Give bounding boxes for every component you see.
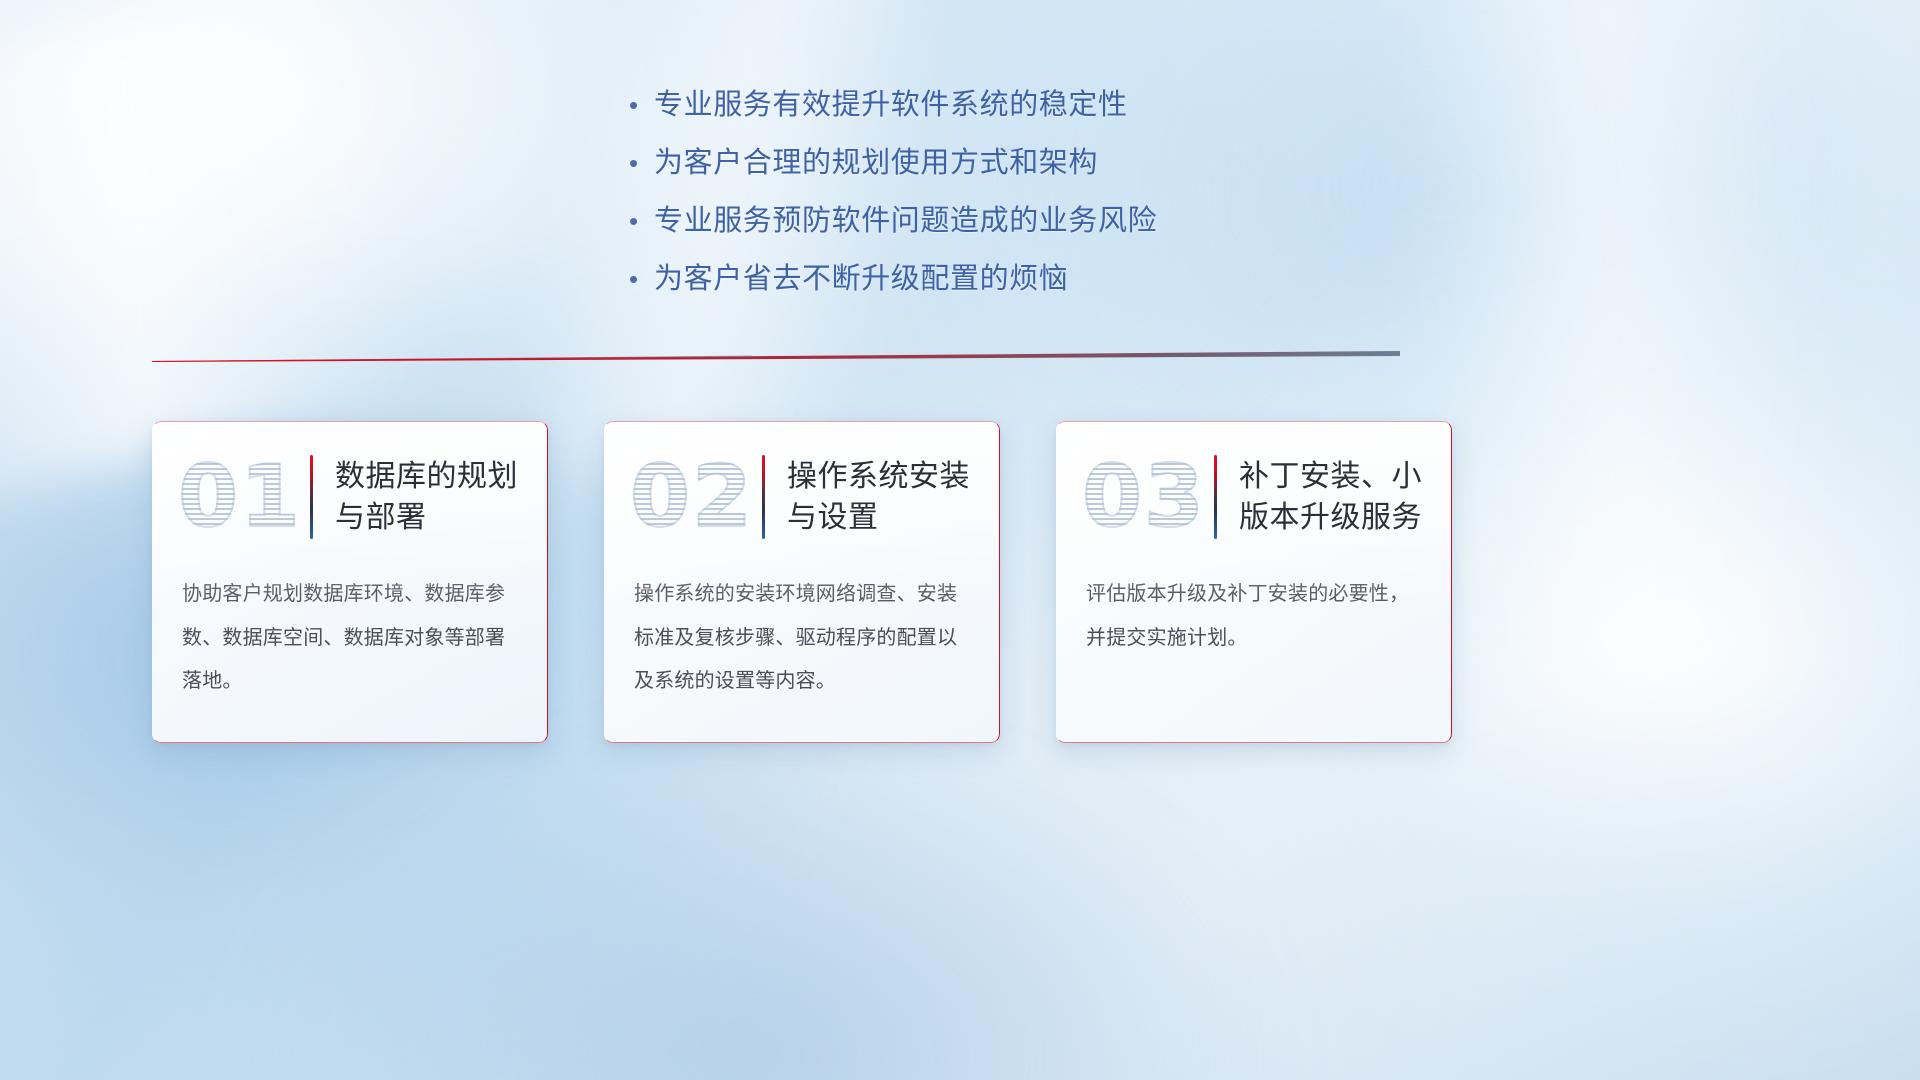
card-03[interactable]: 03 补丁安装、小版本升级服务 评估版本升级及补丁安装的必要性，并提交实施计划。 <box>1056 421 1452 743</box>
bullet-dot-icon: • <box>620 150 654 176</box>
section-divider <box>152 349 1400 363</box>
card-header: 03 补丁安装、小版本升级服务 <box>1056 421 1452 573</box>
bullet-text: 为客户省去不断升级配置的烦恼 <box>654 260 1068 299</box>
card-number-badge: 01 <box>174 445 306 549</box>
bullet-dot-icon: • <box>620 266 654 292</box>
card-02[interactable]: 02 操作系统安装与设置 操作系统的安装环境网络调查、安装标准及复核步骤、驱动程… <box>604 421 1000 743</box>
bullet-text: 为客户合理的规划使用方式和架构 <box>654 144 1098 183</box>
card-header: 01 数据库的规划与部署 <box>152 421 548 573</box>
card-number: 01 <box>178 454 302 540</box>
list-item: • 专业服务预防软件问题造成的业务风险 <box>620 202 1300 241</box>
list-item: • 专业服务有效提升软件系统的稳定性 <box>620 86 1300 125</box>
card-body-text: 评估版本升级及补丁安装的必要性，并提交实施计划。 <box>1056 573 1452 660</box>
card-title-divider-icon <box>310 455 313 539</box>
card-number: 02 <box>630 454 754 540</box>
card-title: 操作系统安装与设置 <box>787 456 1000 539</box>
card-title: 补丁安装、小版本升级服务 <box>1239 456 1452 539</box>
card-header: 02 操作系统安装与设置 <box>604 421 1000 573</box>
card-number: 03 <box>1082 454 1206 540</box>
card-number-badge: 02 <box>626 445 758 549</box>
card-title: 数据库的规划与部署 <box>335 456 548 539</box>
card-body-text: 操作系统的安装环境网络调查、安装标准及复核步骤、驱动程序的配置以及系统的设置等内… <box>604 573 1000 704</box>
bullet-text: 专业服务预防软件问题造成的业务风险 <box>654 202 1157 241</box>
card-title-divider-icon <box>1214 455 1217 539</box>
card-number-badge: 03 <box>1078 445 1210 549</box>
card-body-text: 协助客户规划数据库环境、数据库参数、数据库空间、数据库对象等部署落地。 <box>152 573 548 704</box>
card-title-divider-icon <box>762 455 765 539</box>
list-item: • 为客户省去不断升级配置的烦恼 <box>620 260 1300 299</box>
card-01[interactable]: 01 数据库的规划与部署 协助客户规划数据库环境、数据库参数、数据库空间、数据库… <box>152 421 548 743</box>
bullet-dot-icon: • <box>620 92 654 118</box>
bullet-dot-icon: • <box>620 208 654 234</box>
bullet-text: 专业服务有效提升软件系统的稳定性 <box>654 86 1128 125</box>
list-item: • 为客户合理的规划使用方式和架构 <box>620 144 1300 183</box>
card-group: 01 数据库的规划与部署 协助客户规划数据库环境、数据库参数、数据库空间、数据库… <box>152 421 1452 743</box>
bullet-list: • 专业服务有效提升软件系统的稳定性 • 为客户合理的规划使用方式和架构 • 专… <box>0 86 1920 319</box>
